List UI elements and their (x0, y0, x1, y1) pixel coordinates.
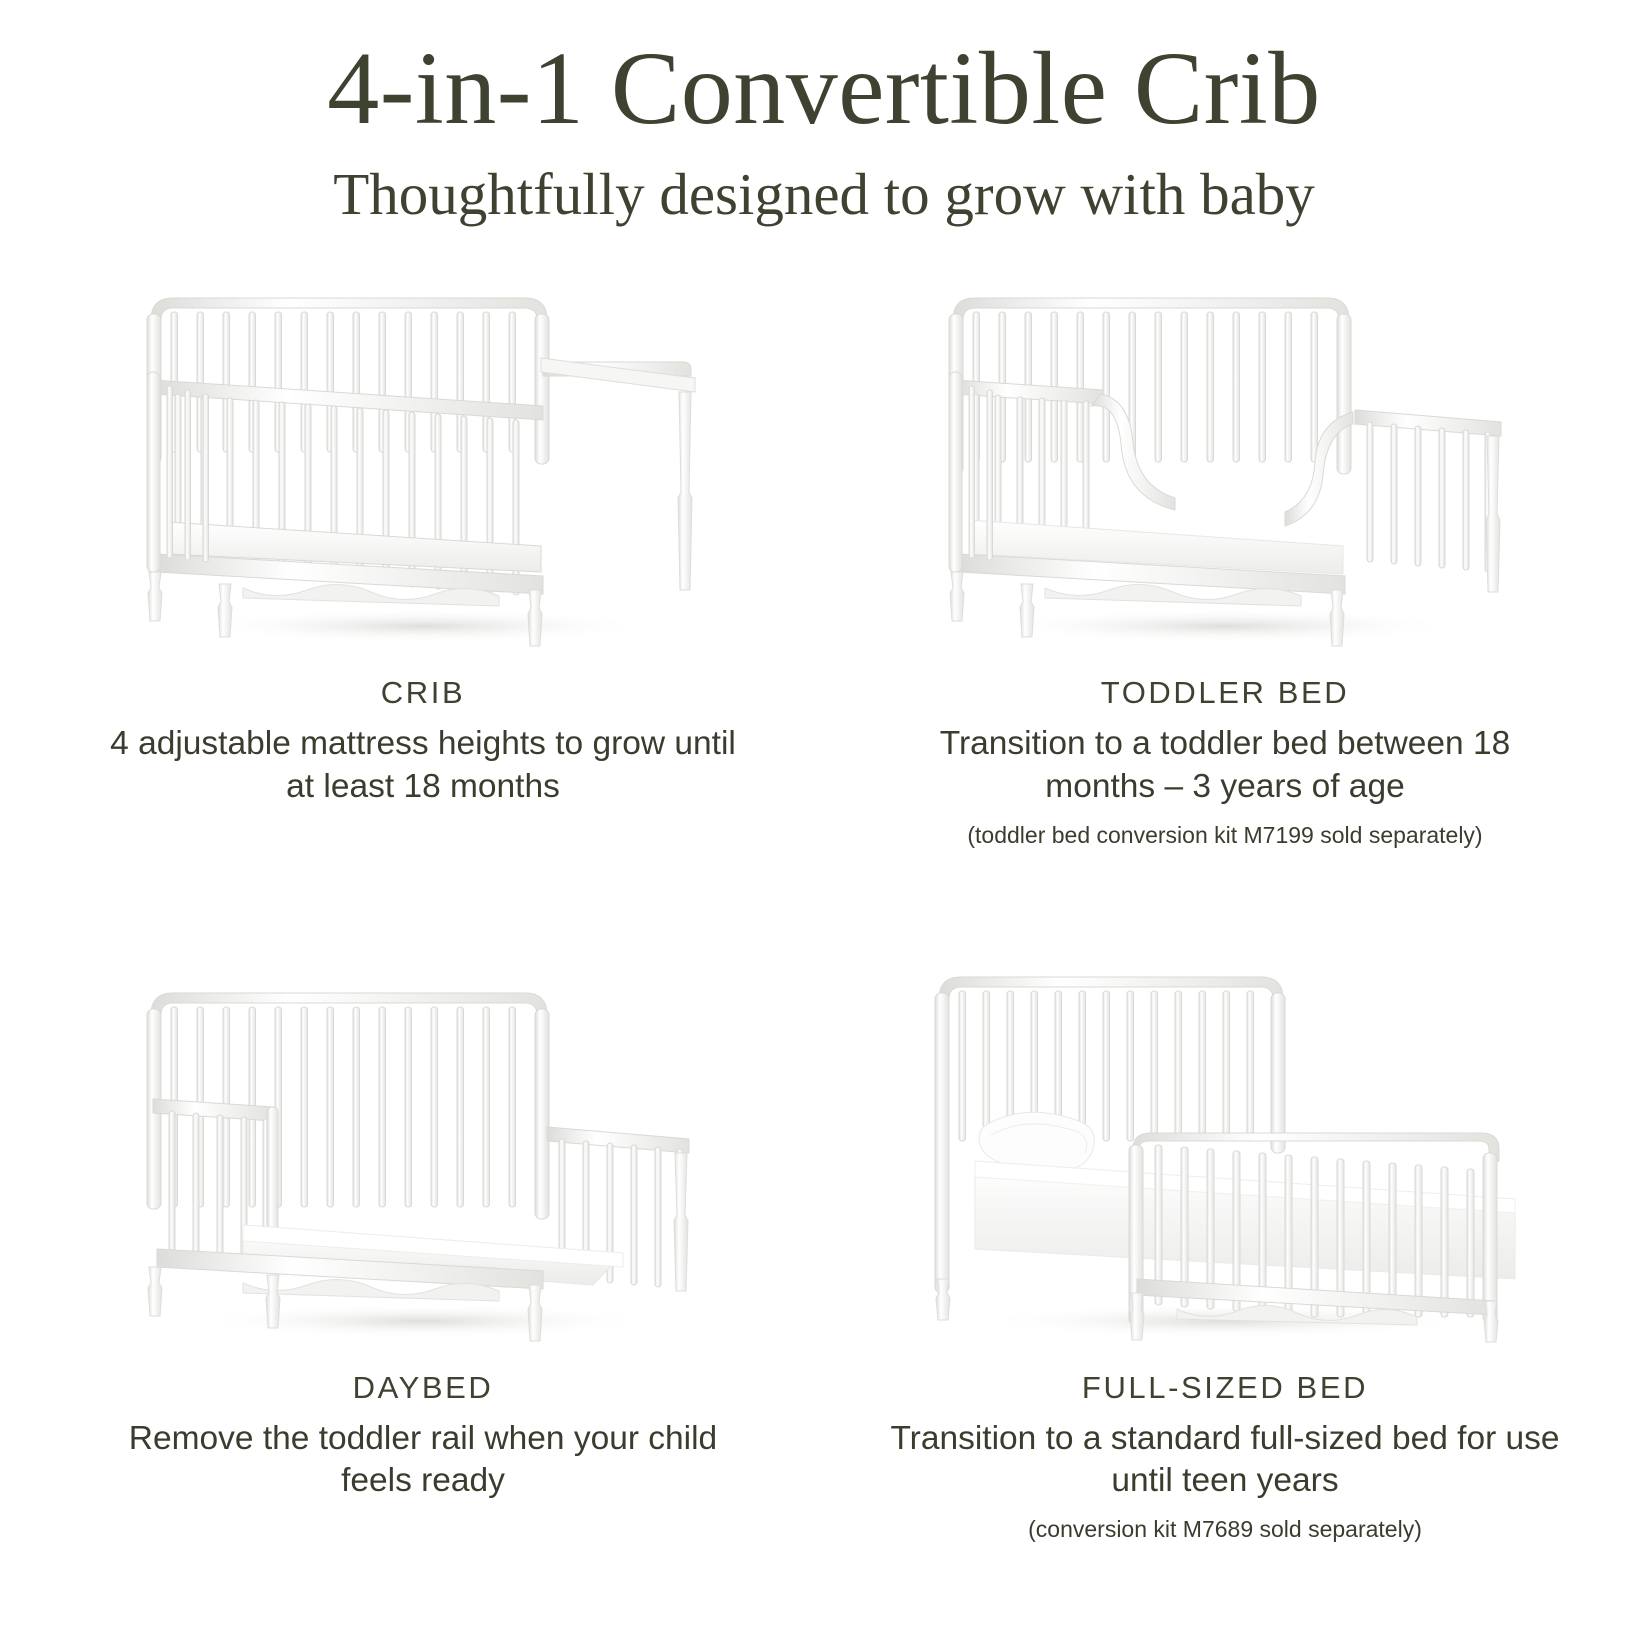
panel-description-full-sized-bed: Transition to a standard full-sized bed … (885, 1418, 1565, 1504)
configuration-grid: CRIB 4 adjustable mattress heights to gr… (0, 227, 1648, 1648)
crib-illustration (30, 249, 816, 649)
page-title: 4-in-1 Convertible Crib (0, 34, 1648, 144)
toddler-bed-illustration (832, 249, 1618, 649)
panel-description-toddler-bed: Transition to a toddler bed between 18 m… (885, 723, 1565, 809)
daybed-illustration (30, 944, 816, 1344)
panel-description-daybed: Remove the toddler rail when your child … (103, 1418, 743, 1504)
full-sized-bed-illustration (832, 944, 1618, 1344)
page-subtitle: Thoughtfully designed to grow with baby (0, 162, 1648, 227)
panel-fine-print-toddler-bed: (toddler bed conversion kit M7199 sold s… (967, 821, 1482, 851)
header: 4-in-1 Convertible Crib Thoughtfully des… (0, 0, 1648, 227)
panel-fine-print-full-sized-bed: (conversion kit M7689 sold separately) (1028, 1515, 1422, 1545)
panel-crib: CRIB 4 adjustable mattress heights to gr… (30, 249, 816, 943)
panel-full-sized-bed: FULL-SIZED BED Transition to a standard … (832, 944, 1618, 1638)
panel-toddler-bed: TODDLER BED Transition to a toddler bed … (832, 249, 1618, 943)
panel-description-crib: 4 adjustable mattress heights to grow un… (103, 723, 743, 809)
panel-label-toddler-bed: TODDLER BED (1101, 675, 1350, 711)
panel-daybed: DAYBED Remove the toddler rail when your… (30, 944, 816, 1638)
infographic-page: 4-in-1 Convertible Crib Thoughtfully des… (0, 0, 1648, 1648)
panel-label-full-sized-bed: FULL-SIZED BED (1082, 1370, 1368, 1406)
panel-label-crib: CRIB (381, 675, 465, 711)
panel-label-daybed: DAYBED (353, 1370, 494, 1406)
